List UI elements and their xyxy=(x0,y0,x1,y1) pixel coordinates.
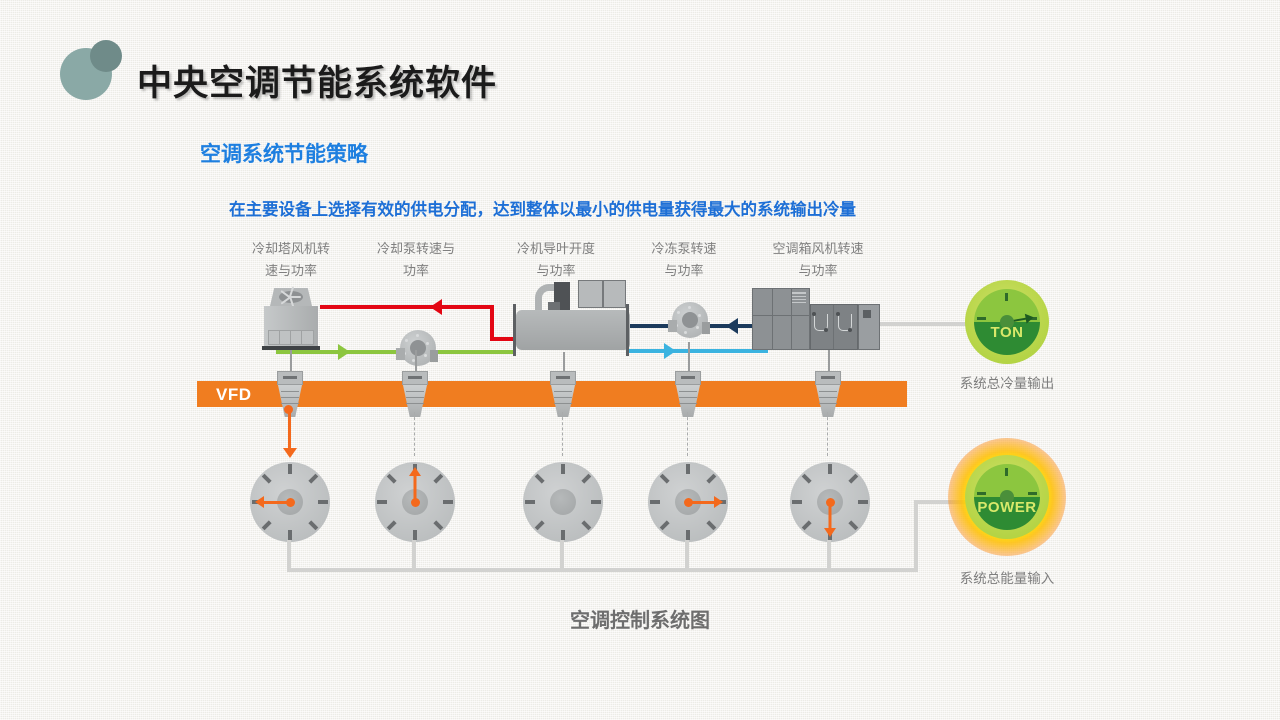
vfd-drive-2[interactable] xyxy=(402,371,428,417)
chilled-water-pump-icon xyxy=(668,302,710,342)
chiller-end-right xyxy=(626,304,629,356)
chilled-supply-pipe xyxy=(626,349,768,353)
motor-dial-4[interactable] xyxy=(648,462,728,542)
logo-circle-small xyxy=(90,40,122,72)
cooling-tower-icon xyxy=(262,288,320,358)
equipment-label-5-line1: 空调箱风机转速 xyxy=(748,238,888,260)
section-lead-text: 在主要设备上选择有效的供电分配，达到整体以最小的供电量获得最大的系统输出冷量 xyxy=(229,196,856,220)
ton-gauge[interactable]: TON xyxy=(965,280,1049,364)
ton-gauge-caption: 系统总冷量输出 xyxy=(930,372,1084,392)
ahu-filter xyxy=(792,292,806,303)
drive-motor-link-4 xyxy=(687,412,688,456)
equipment-label-2-line1: 冷却泵转速与 xyxy=(357,238,475,260)
ahu-control-box xyxy=(863,310,871,318)
tower-louvers xyxy=(268,330,314,345)
drive-motor-arrow-1 xyxy=(283,448,297,458)
power-bus-to-gauge xyxy=(914,500,970,504)
vfd-drive-4[interactable] xyxy=(675,371,701,417)
power-gauge-caption: 系统总能量输入 xyxy=(930,567,1084,587)
page-title: 中央空调节能系统软件 xyxy=(137,55,497,106)
equipment-label-2: 冷却泵转速与 功率 xyxy=(357,238,475,282)
vfd-drive-5[interactable] xyxy=(815,371,841,417)
drive-output-dot-1 xyxy=(284,405,293,414)
condenser-return-pipe-seg2 xyxy=(452,305,494,309)
ton-gauge-face: TON xyxy=(974,289,1040,355)
pump-discharge xyxy=(702,322,710,334)
condenser-return-pipe-horizontal xyxy=(320,305,472,309)
vfd-drive-3[interactable] xyxy=(550,371,576,417)
power-gauge-face: POWER xyxy=(974,464,1040,530)
drive-motor-link-1 xyxy=(288,410,291,452)
condenser-pump-icon xyxy=(396,330,438,370)
pump-suction xyxy=(668,320,677,332)
equipment-label-4-line1: 冷冻泵转速 xyxy=(630,238,738,260)
equipment-label-4: 冷冻泵转速 与功率 xyxy=(630,238,738,282)
equipment-label-1-line2: 速与功率 xyxy=(228,260,354,282)
equipment-label-3-line1: 冷机导叶开度 xyxy=(497,238,615,260)
chiller-end-left xyxy=(513,304,516,356)
section-subtitle: 空调系统节能策略 xyxy=(200,138,368,168)
chilled-supply-arrow xyxy=(664,343,676,359)
condenser-supply-arrow xyxy=(338,344,350,360)
power-gauge-label: POWER xyxy=(974,499,1040,516)
chiller-icon xyxy=(508,300,638,352)
equipment-label-3: 冷机导叶开度 与功率 xyxy=(497,238,615,282)
ton-gauge-label: TON xyxy=(974,324,1040,341)
drive-motor-link-2 xyxy=(414,412,415,456)
chilled-return-arrow xyxy=(726,318,738,334)
ton-output-connector xyxy=(880,322,966,326)
equipment-label-2-line2: 功率 xyxy=(357,260,475,282)
vfd-bar-label: VFD xyxy=(216,385,252,405)
motor-dial-5[interactable] xyxy=(790,462,870,542)
pump-discharge xyxy=(430,350,438,362)
equipment-label-5-line2: 与功率 xyxy=(748,260,888,282)
chiller-control-panel xyxy=(578,280,626,308)
motor-dial-3[interactable] xyxy=(523,462,603,542)
two-circles-logo-icon xyxy=(60,40,126,106)
power-gauge[interactable]: POWER xyxy=(965,455,1049,539)
power-bus-horizontal xyxy=(287,568,918,572)
motor-dial-1[interactable] xyxy=(250,462,330,542)
equipment-label-1-line1: 冷却塔风机转 xyxy=(228,238,354,260)
equipment-label-5: 空调箱风机转速 与功率 xyxy=(748,238,888,282)
equipment-label-1: 冷却塔风机转 速与功率 xyxy=(228,238,354,282)
condenser-return-arrow xyxy=(430,299,442,315)
chiller-shell xyxy=(516,310,630,350)
power-bus-riser xyxy=(914,500,918,572)
motor-dial-2[interactable] xyxy=(375,462,455,542)
slide-canvas: 中央空调节能系统软件 空调系统节能策略 在主要设备上选择有效的供电分配，达到整体… xyxy=(0,0,1280,720)
equipment-label-4-line2: 与功率 xyxy=(630,260,738,282)
drive-motor-link-5 xyxy=(827,412,828,456)
air-handling-unit-icon xyxy=(752,288,880,350)
diagram-caption: 空调控制系统图 xyxy=(0,604,1280,633)
pump-suction xyxy=(396,348,405,360)
condenser-return-pipe-vertical xyxy=(490,305,494,341)
equipment-label-3-line2: 与功率 xyxy=(497,260,615,282)
drive-motor-link-3 xyxy=(562,412,563,456)
ahu-section-fan xyxy=(858,304,880,350)
